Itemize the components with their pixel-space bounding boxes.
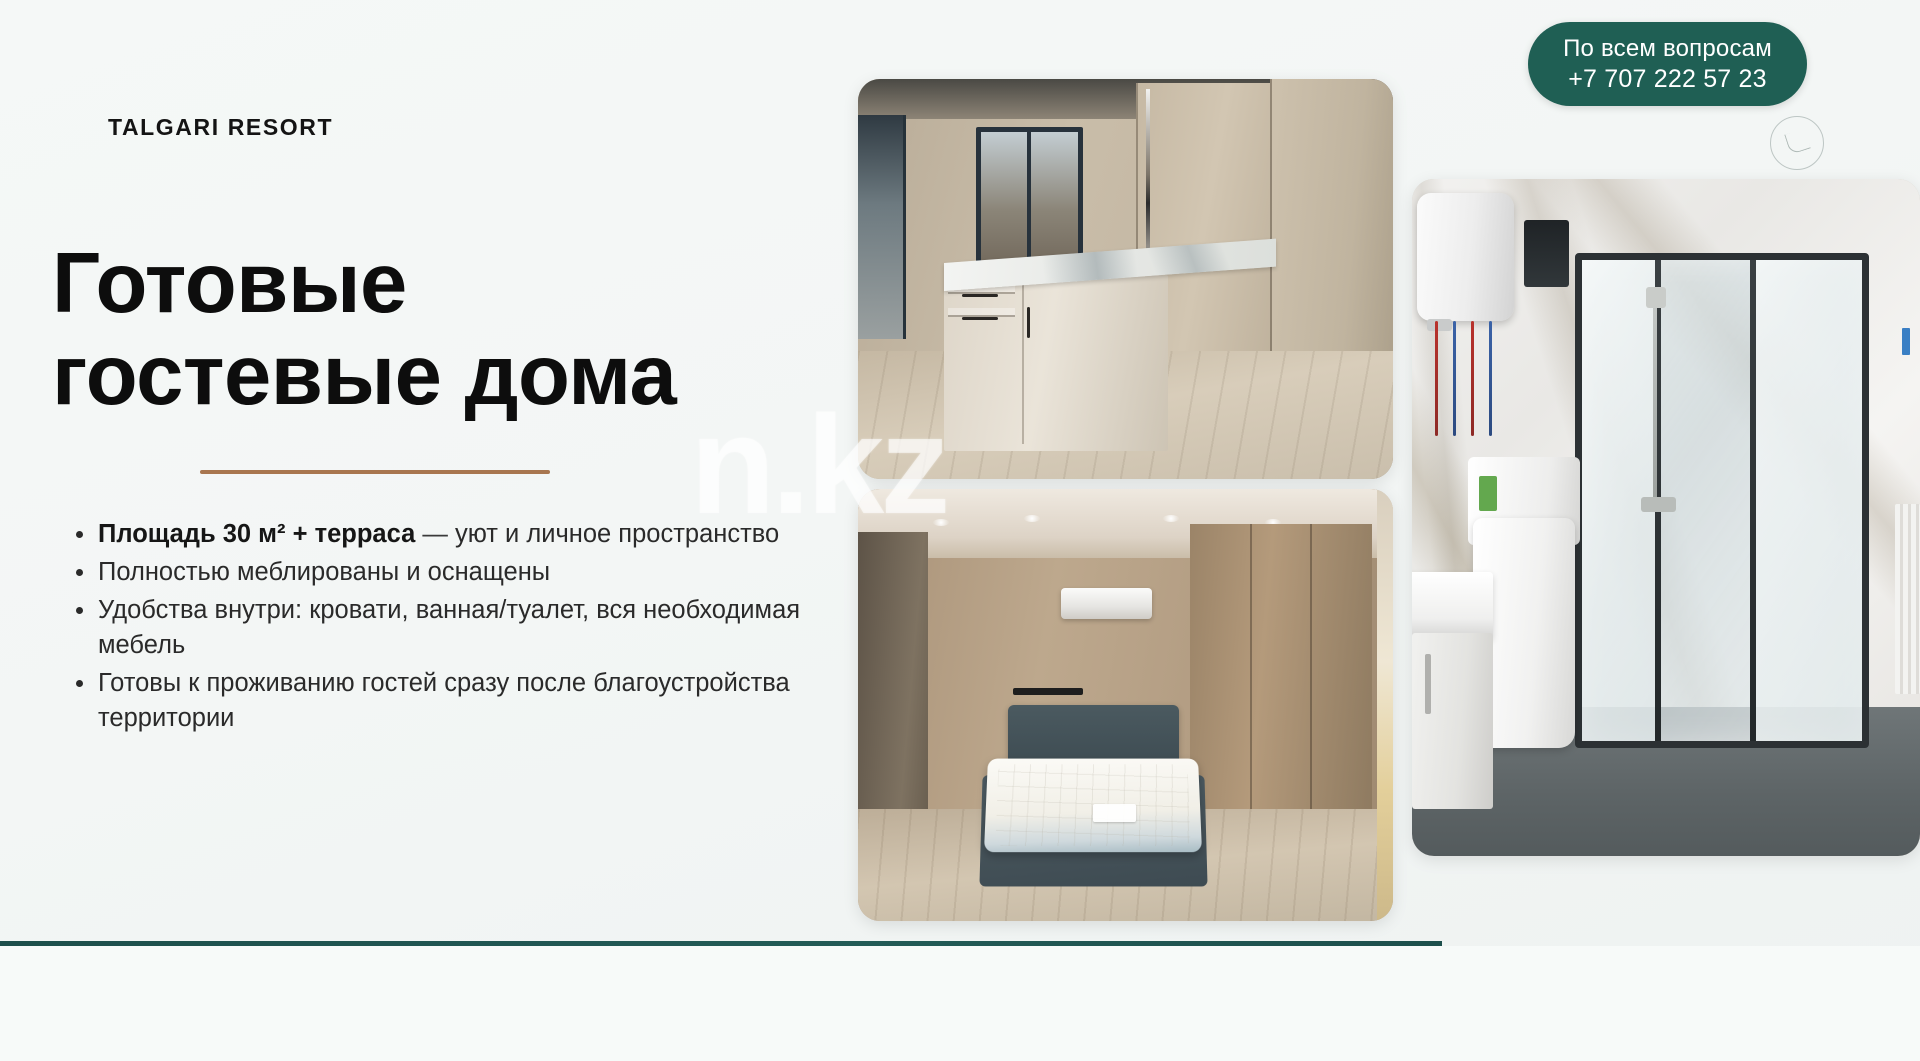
contact-phone[interactable]: +7 707 222 57 23 bbox=[1568, 65, 1767, 94]
photo-collage bbox=[0, 0, 1920, 1061]
contact-badge[interactable]: По всем вопросам +7 707 222 57 23 bbox=[1528, 22, 1807, 106]
footer-band bbox=[0, 946, 1920, 1061]
bedroom-photo bbox=[858, 489, 1393, 921]
bathroom-photo-scene bbox=[1412, 179, 1920, 856]
kitchen-photo-scene bbox=[858, 79, 1393, 479]
presentation-slide: TALGARI RESORT Готовые гостевые дома Пло… bbox=[0, 0, 1920, 1061]
bathroom-photo bbox=[1412, 179, 1920, 856]
bedroom-photo-scene bbox=[858, 489, 1393, 921]
contact-label: По всем вопросам bbox=[1563, 35, 1772, 63]
leaf-circle-icon bbox=[1770, 116, 1824, 170]
kitchen-photo bbox=[858, 79, 1393, 479]
bottom-divider bbox=[0, 941, 1442, 946]
